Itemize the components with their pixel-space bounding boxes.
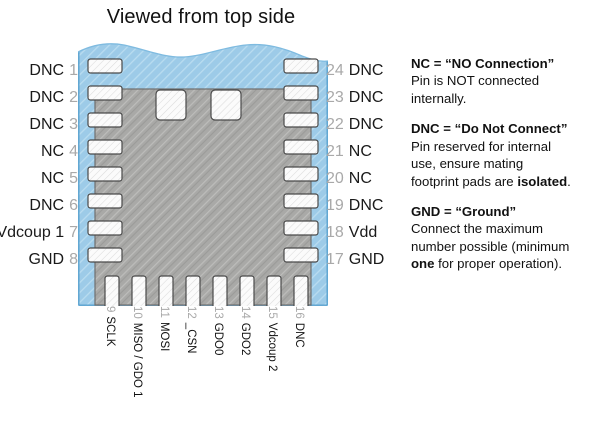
legend-dnc-line3: footprint pads are isolated. xyxy=(411,173,597,190)
pin-number: 14 xyxy=(239,306,251,319)
pin-name: GDO2 xyxy=(239,323,251,356)
pin-label-13: 13GDO0 xyxy=(212,306,224,355)
legend-gnd-one-emphasis: one xyxy=(411,256,434,271)
pin-number: 10 xyxy=(131,306,143,319)
legend-gnd-line1: Connect the maximum xyxy=(411,220,597,237)
pin-label-12: 12_CSN xyxy=(185,306,197,353)
pin-name: _CSN xyxy=(185,323,197,354)
pin-label-9: 9SCLK xyxy=(104,306,116,346)
pin-label-11: 11MOSI xyxy=(158,306,170,351)
legend-gnd-block: GND = “Ground” Connect the maximum numbe… xyxy=(411,203,597,273)
legend-dnc-line1: Pin reserved for internal xyxy=(411,138,597,155)
pin-name: GDO0 xyxy=(212,323,224,356)
legend-nc-heading: NC = “NO Connection” xyxy=(411,55,597,72)
legend-nc-block: NC = “NO Connection” Pin is NOT connecte… xyxy=(411,55,597,107)
legend-gnd-line2: number possible (minimum xyxy=(411,238,597,255)
legend-gnd-heading: GND = “Ground” xyxy=(411,203,597,220)
legend-nc-line1: Pin is NOT connected xyxy=(411,72,597,89)
pin-number: 9 xyxy=(104,306,116,312)
legend-gnd-line3: one for proper operation). xyxy=(411,255,597,272)
pin-name: SCLK xyxy=(104,316,116,346)
pin-number: 15 xyxy=(266,306,278,319)
pin-number: 12 xyxy=(185,306,197,319)
pin-number: 16 xyxy=(293,306,305,319)
pin-name: DNC xyxy=(293,323,305,348)
pin-number: 11 xyxy=(158,306,170,318)
pin-label-16: 16DNC xyxy=(293,306,305,348)
legend-notes: NC = “NO Connection” Pin is NOT connecte… xyxy=(411,55,597,273)
pin-label-10: 10MISO / GDO 1 xyxy=(131,306,143,398)
legend-dnc-heading: DNC = “Do Not Connect” xyxy=(411,120,597,137)
pin-number: 13 xyxy=(212,306,224,319)
pin-name: MOSI xyxy=(158,322,170,351)
pin-name: Vdcoup 2 xyxy=(266,323,278,372)
legend-spacer-2 xyxy=(411,190,597,203)
legend-gnd-line3-post: for proper operation). xyxy=(434,256,562,271)
legend-nc-line2: internally. xyxy=(411,90,597,107)
legend-dnc-line2: use, ensure mating xyxy=(411,155,597,172)
pin-label-15: 15Vdcoup 2 xyxy=(266,306,278,371)
legend-spacer-1 xyxy=(411,107,597,120)
diagram-canvas: Viewed from top side xyxy=(0,0,600,421)
legend-dnc-line3-pre: footprint pads are xyxy=(411,174,517,189)
legend-dnc-isolated-emphasis: isolated xyxy=(517,174,567,189)
pin-name: MISO / GDO 1 xyxy=(131,323,143,398)
legend-dnc-line3-post: . xyxy=(567,174,571,189)
pin-label-14: 14GDO2 xyxy=(239,306,251,355)
legend-dnc-block: DNC = “Do Not Connect” Pin reserved for … xyxy=(411,120,597,190)
